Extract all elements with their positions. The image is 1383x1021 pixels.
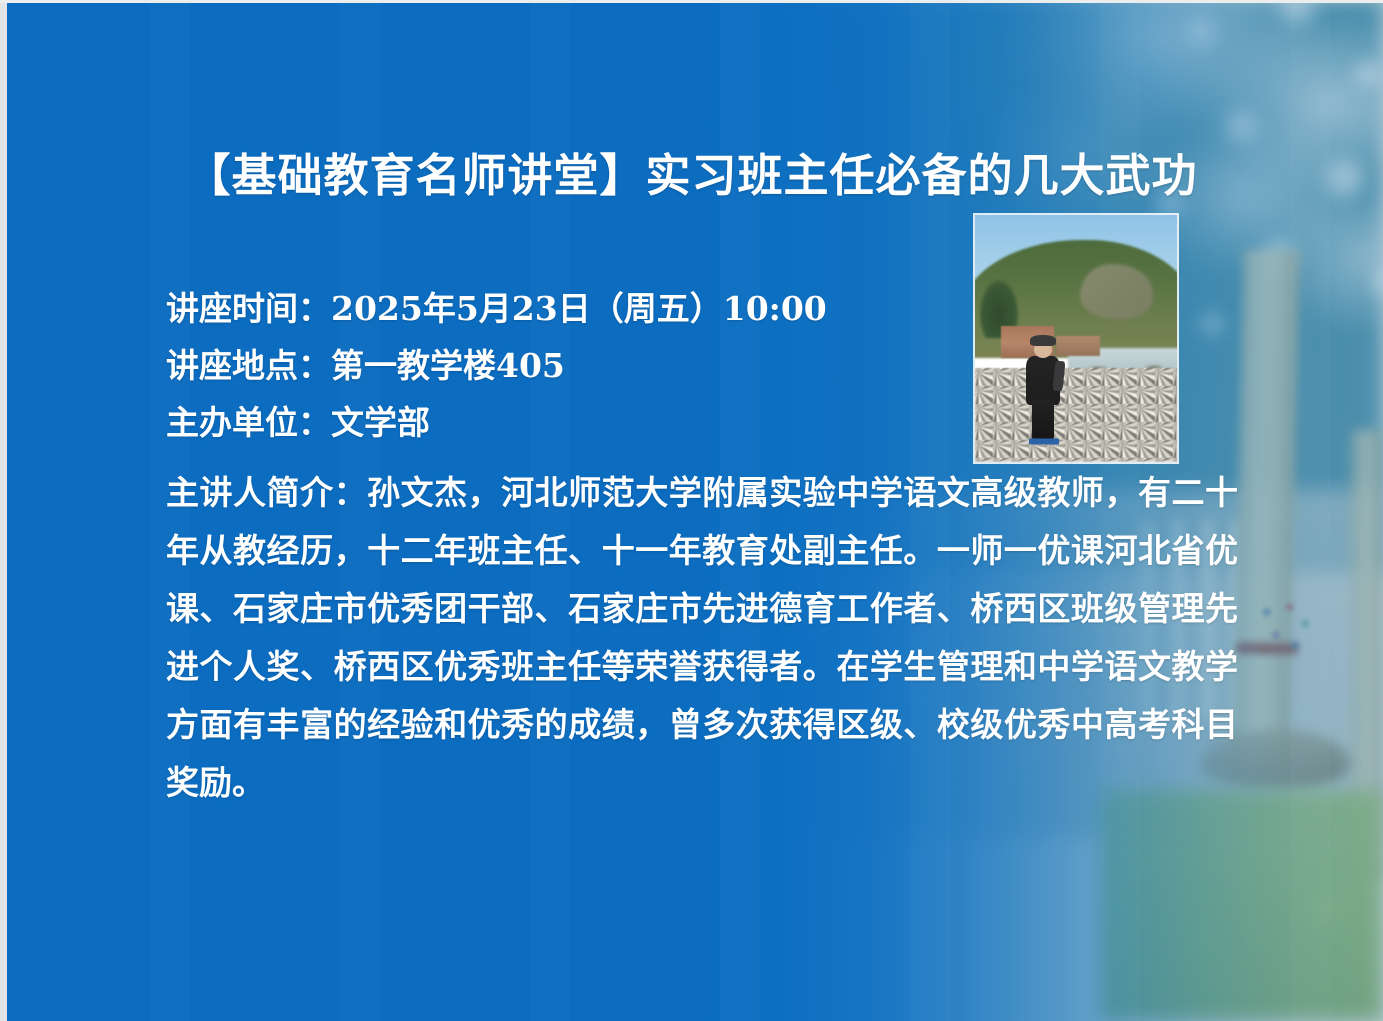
photo-person-legs bbox=[1032, 400, 1054, 442]
photo-village-buildings bbox=[1056, 336, 1100, 356]
photo-person-hat bbox=[1030, 335, 1056, 346]
speaker-photo bbox=[975, 215, 1177, 462]
speaker-bio-text: 主讲人简介：孙文杰，河北师范大学附属实验中学语文高级教师，有二十年从教经历，十二… bbox=[166, 464, 1238, 812]
speaker-bio-block: 主讲人简介：孙文杰，河北师范大学附属实验中学语文高级教师，有二十年从教经历，十二… bbox=[166, 464, 1238, 812]
lecture-details: 讲座时间：2025年5月23日（周五）10:00 讲座地点：第一教学楼405 主… bbox=[166, 280, 966, 451]
lecture-organizer-line: 主办单位：文学部 bbox=[166, 394, 966, 451]
speaker-photo-scene bbox=[975, 215, 1177, 462]
lecture-time-line: 讲座时间：2025年5月23日（周五）10:00 bbox=[166, 280, 966, 337]
slide-top-edge-strip bbox=[0, 0, 1383, 3]
slide-left-edge-strip bbox=[0, 0, 7, 1021]
photo-cliff-rock bbox=[1080, 264, 1153, 318]
photo-person-shoes bbox=[1029, 437, 1059, 446]
poster-content: 【基础教育名师讲堂】实习班主任必备的几大武功 讲座时间：2025年5月23日（周… bbox=[0, 0, 1383, 1021]
lecture-poster: 【基础教育名师讲堂】实习班主任必备的几大武功 讲座时间：2025年5月23日（周… bbox=[0, 0, 1383, 1021]
lecture-location-line: 讲座地点：第一教学楼405 bbox=[166, 337, 966, 394]
page-title: 【基础教育名师讲堂】实习班主任必备的几大武功 bbox=[0, 146, 1383, 206]
photo-pebble-beach bbox=[975, 368, 1177, 462]
